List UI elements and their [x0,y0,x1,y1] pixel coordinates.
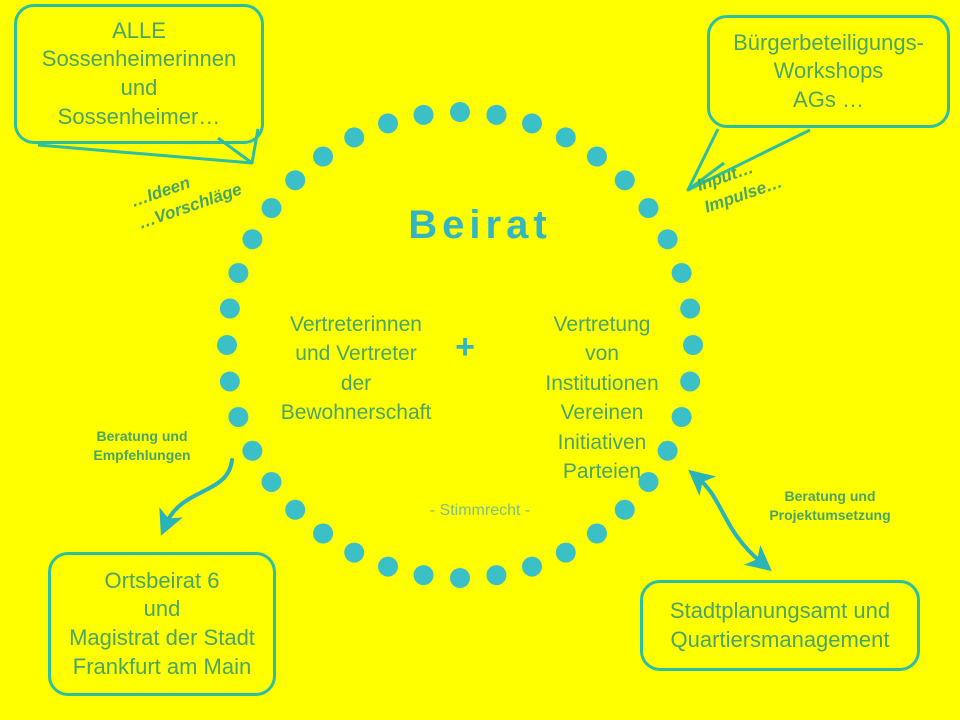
ring-dot [414,105,434,125]
text-line: Bewohnerschaft [262,398,450,427]
ring-dot [344,543,364,563]
text-line: Empfehlungen [80,446,204,465]
text-line: Beratung und [745,487,915,506]
ring-dot [587,147,607,167]
ring-dot [228,263,248,283]
text-line: Ortsbeirat 6 [61,567,263,596]
text-line: Magistrat der Stadt [61,624,263,653]
ring-dot [556,543,576,563]
ring-dot [522,113,542,133]
ring-dot [220,371,240,391]
ring-dot [242,441,262,461]
ring-dot [378,557,398,577]
diagram-canvas: ALLESossenheimerinnenundSossenheimer… Bü… [0,0,960,720]
ring-dot [522,557,542,577]
text-line: Beratung und [80,427,204,446]
ring-dot [285,170,305,190]
speech-bubble-alle-text: ALLESossenheimerinnenundSossenheimer… [17,17,261,131]
ring-dot [378,113,398,133]
text-line: AGs … [720,86,937,115]
ring-dot [587,524,607,544]
text-line: Projektumsetzung [745,506,915,525]
ring-dot [313,524,333,544]
ring-dot [414,565,434,585]
text-line: von [508,339,696,368]
ring-dot [450,102,470,122]
text-line: und [27,74,251,103]
text-line: Frankfurt am Main [61,653,263,682]
annotation-beratung-empfehlungen: Beratung undEmpfehlungen [80,427,204,465]
ring-dot [344,127,364,147]
ring-dot [450,568,470,588]
text-line: Quartiersmanagement [653,626,907,655]
text-line: Initiativen [508,428,696,457]
box-ortsbeirat[interactable]: Ortsbeirat 6undMagistrat der StadtFrankf… [48,552,276,696]
ring-dot [556,127,576,147]
text-line: ALLE [27,17,251,46]
text-line: Workshops [720,57,937,86]
text-line: Stadtplanungsamt und [653,597,907,626]
ring-dot [615,170,635,190]
ring-dot [220,299,240,319]
ring-dot [486,105,506,125]
ring-dot [228,407,248,427]
speech-bubble-buergerbeteiligung[interactable]: Bürgerbeteiligungs-WorkshopsAGs … [707,15,950,128]
text-line: Parteien [508,457,696,486]
text-line: der [262,369,450,398]
box-stadtplanungsamt[interactable]: Stadtplanungsamt undQuartiersmanagement [640,580,920,671]
ring-dot [672,263,692,283]
plus-icon: + [445,328,485,367]
text-line: Bürgerbeteiligungs- [720,29,937,58]
ring-dot [262,472,282,492]
text-line: Vertretung [508,310,696,339]
box-stadtplanungsamt-text: Stadtplanungsamt undQuartiersmanagement [643,597,917,654]
ring-dot [486,565,506,585]
text-line: Vertreterinnen [262,310,450,339]
annotation-beratung-projektumsetzung: Beratung undProjektumsetzung [745,487,915,525]
box-ortsbeirat-text: Ortsbeirat 6undMagistrat der StadtFrankf… [51,567,273,681]
ring-dot [217,335,237,355]
text-line: Vereinen [508,398,696,427]
text-line: Institutionen [508,369,696,398]
text-line: Sossenheimerinnen [27,45,251,74]
ring-dot [313,147,333,167]
center-column-left: Vertreterinnenund VertreterderBewohnersc… [262,310,450,428]
speech-bubble-buergerbeteiligung-text: Bürgerbeteiligungs-WorkshopsAGs … [710,29,947,115]
center-column-right: VertretungvonInstitutionenVereinenInitia… [508,310,696,486]
speech-bubble-alle[interactable]: ALLESossenheimerinnenundSossenheimer… [14,4,264,144]
text-line: und Vertreter [262,339,450,368]
text-line: und [61,595,263,624]
text-line: Sossenheimer… [27,103,251,132]
